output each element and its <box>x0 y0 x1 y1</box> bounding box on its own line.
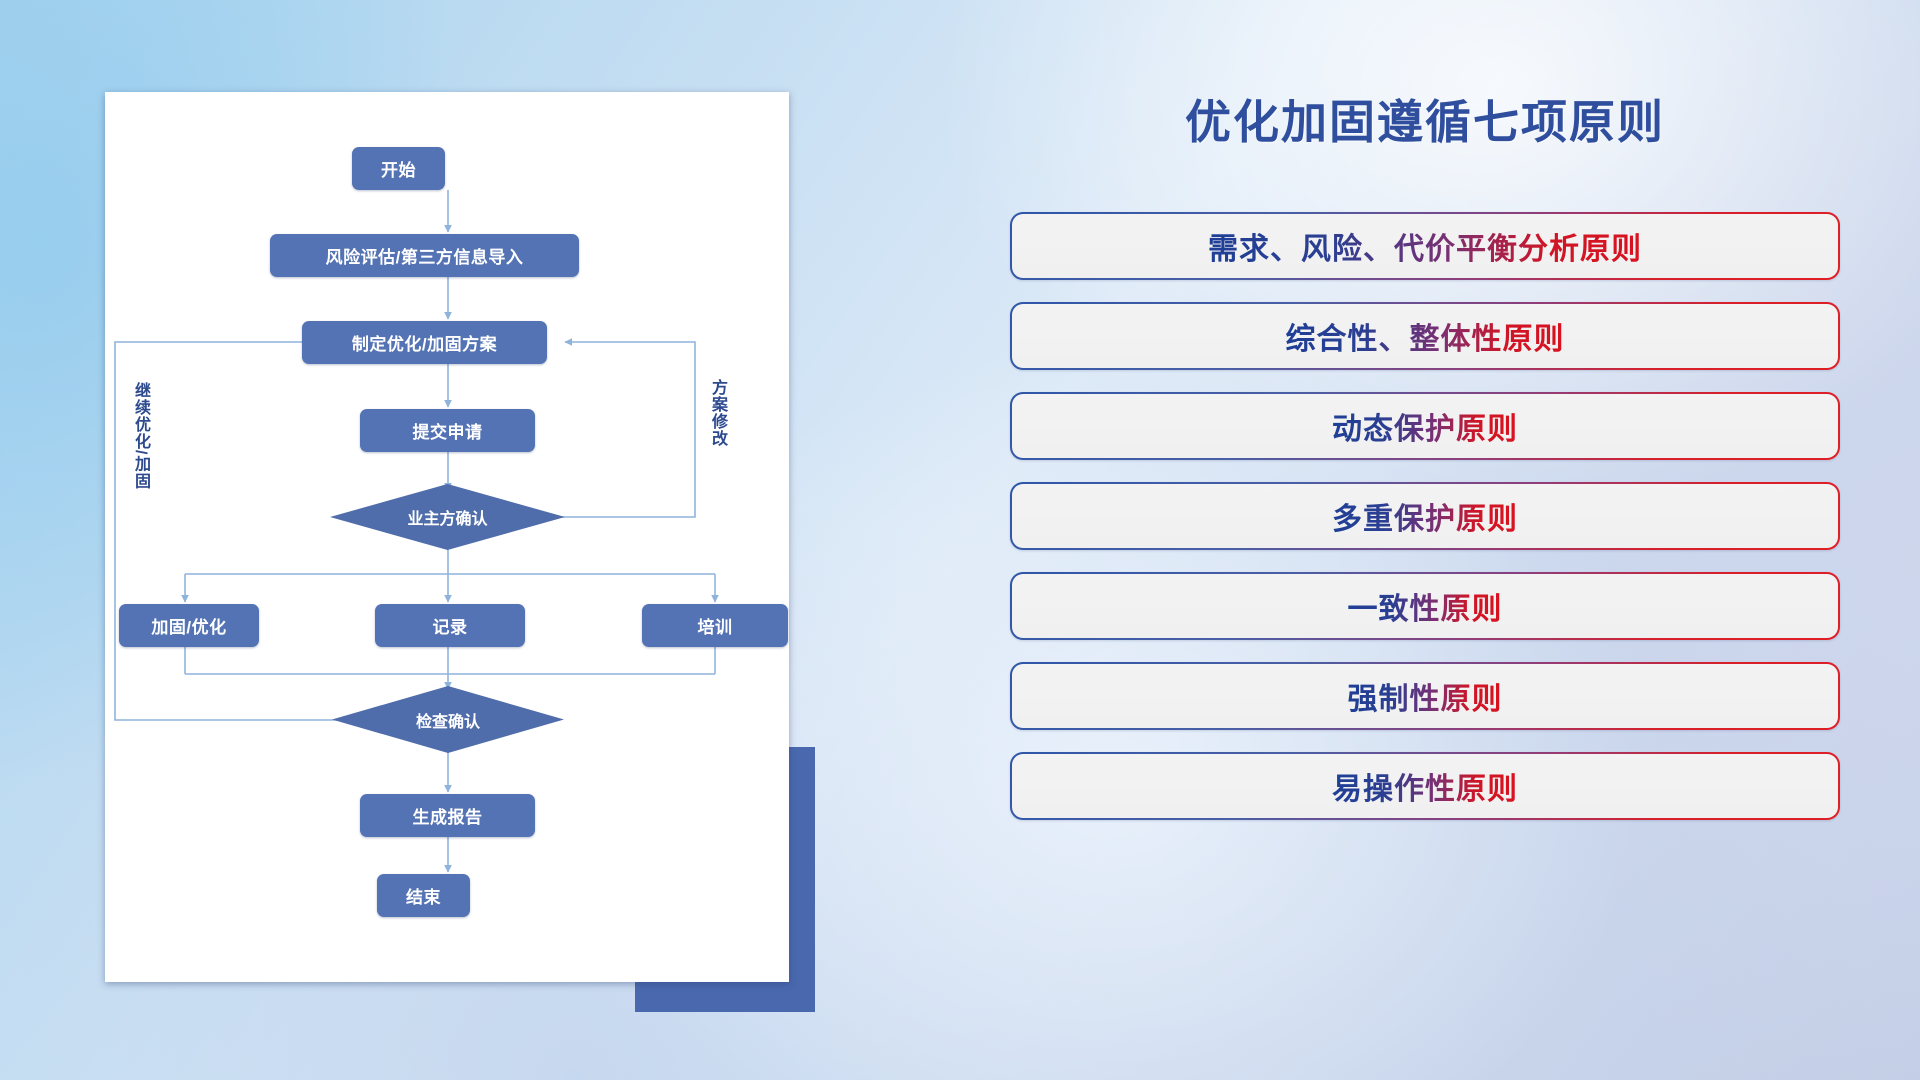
flow-node-generate-report[interactable]: 生成报告 <box>360 794 535 837</box>
principle-label: 一致性原则 <box>1348 584 1503 628</box>
flow-node-risk-assessment[interactable]: 风险评估/第三方信息导入 <box>270 234 579 277</box>
flow-node-label: 风险评估/第三方信息导入 <box>326 243 524 268</box>
flow-node-start[interactable]: 开始 <box>352 147 445 190</box>
flow-node-reinforce[interactable]: 加固/优化 <box>119 604 259 647</box>
flow-node-label: 提交申请 <box>413 418 483 443</box>
flow-node-label: 业主方确认 <box>407 505 487 529</box>
principle-label: 多重保护原则 <box>1332 494 1518 538</box>
flow-node-training[interactable]: 培训 <box>642 604 788 647</box>
principle-label: 强制性原则 <box>1348 674 1503 718</box>
edge-label-plan-revision: 方案修改 <box>708 379 725 447</box>
flow-node-end[interactable]: 结束 <box>377 874 470 917</box>
flow-node-label: 开始 <box>381 156 416 181</box>
flow-node-label: 生成报告 <box>413 803 483 828</box>
flow-node-label: 检查确认 <box>416 708 480 732</box>
principle-item-2[interactable]: 综合性、整体性原则 <box>1010 302 1840 370</box>
principle-label: 需求、风险、代价平衡分析原则 <box>1208 224 1642 268</box>
flow-node-submit-application[interactable]: 提交申请 <box>360 409 535 452</box>
principle-item-7[interactable]: 易操作性原则 <box>1010 752 1840 820</box>
flow-node-label: 结束 <box>406 883 441 908</box>
flowchart-panel: 开始 风险评估/第三方信息导入 制定优化/加固方案 提交申请 业主方确认 加固/… <box>105 92 789 982</box>
principles-title: 优化加固遵循七项原则 <box>1010 86 1840 152</box>
slide-canvas: 开始 风险评估/第三方信息导入 制定优化/加固方案 提交申请 业主方确认 加固/… <box>0 0 1920 1080</box>
edge-label-continue-optimize: 继续优化/加固 <box>131 382 148 489</box>
principle-item-1[interactable]: 需求、风险、代价平衡分析原则 <box>1010 212 1840 280</box>
flow-node-label: 培训 <box>698 613 733 638</box>
principle-item-6[interactable]: 强制性原则 <box>1010 662 1840 730</box>
principle-label: 动态保护原则 <box>1332 404 1518 448</box>
principle-item-3[interactable]: 动态保护原则 <box>1010 392 1840 460</box>
principle-item-4[interactable]: 多重保护原则 <box>1010 482 1840 550</box>
flowchart-card: 开始 风险评估/第三方信息导入 制定优化/加固方案 提交申请 业主方确认 加固/… <box>105 92 789 982</box>
principles-list: 需求、风险、代价平衡分析原则 综合性、整体性原则 动态保护原则 多重保护原则 一… <box>1010 212 1840 820</box>
principles-panel: 优化加固遵循七项原则 需求、风险、代价平衡分析原则 综合性、整体性原则 动态保护… <box>1010 86 1840 820</box>
flow-node-record[interactable]: 记录 <box>375 604 525 647</box>
flow-node-label: 制定优化/加固方案 <box>352 330 497 355</box>
principle-item-5[interactable]: 一致性原则 <box>1010 572 1840 640</box>
flow-node-label: 记录 <box>433 613 468 638</box>
flow-node-label: 加固/优化 <box>151 613 226 638</box>
flow-node-plan[interactable]: 制定优化/加固方案 <box>302 321 547 364</box>
principle-label: 易操作性原则 <box>1332 764 1518 808</box>
principle-label: 综合性、整体性原则 <box>1286 314 1565 358</box>
